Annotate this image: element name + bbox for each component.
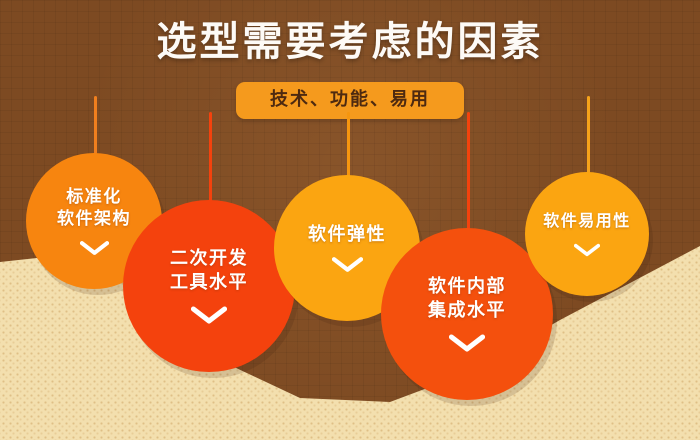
connector-line-software-internal-integration-level	[467, 112, 470, 232]
subtitle-badge: 技术、功能、易用	[236, 82, 464, 119]
connector-line-secondary-development-tool-level	[209, 112, 212, 204]
connector-line-standardized-software-architecture	[94, 96, 97, 154]
connector-line-software-usability	[587, 96, 590, 176]
chevron-down-icon[interactable]	[574, 243, 600, 257]
factor-bubble-label: 标准化软件架构	[51, 186, 137, 231]
page-title: 选型需要考虑的因素	[0, 22, 700, 62]
factor-bubble-software-internal-integration-level[interactable]: 软件内部集成水平	[381, 228, 553, 400]
factor-bubble-label: 软件易用性	[537, 211, 637, 232]
chevron-down-icon[interactable]	[332, 256, 363, 273]
infographic-canvas: 选型需要考虑的因素 技术、功能、易用 标准化软件架构二次开发工具水平软件弹性软件…	[0, 0, 700, 440]
factor-bubble-secondary-development-tool-level[interactable]: 二次开发工具水平	[123, 200, 295, 372]
factor-bubble-label: 软件内部集成水平	[422, 275, 512, 323]
connector-line-software-elasticity	[347, 112, 350, 178]
factor-bubble-label: 软件弹性	[302, 223, 392, 247]
chevron-down-icon[interactable]	[80, 240, 109, 256]
factor-bubble-software-usability[interactable]: 软件易用性	[525, 172, 649, 296]
factor-bubble-label: 二次开发工具水平	[164, 247, 254, 295]
chevron-down-icon[interactable]	[449, 333, 485, 353]
chevron-down-icon[interactable]	[191, 305, 227, 325]
